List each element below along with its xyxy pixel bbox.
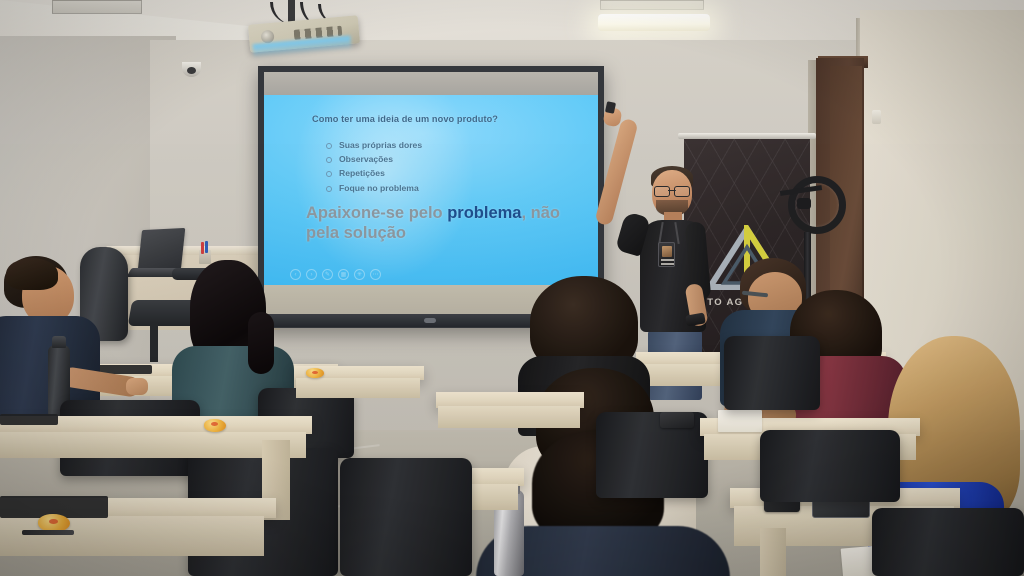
laser-pointer-icon[interactable]: ✳ bbox=[354, 269, 365, 280]
snack bbox=[306, 368, 324, 378]
smartphone[interactable] bbox=[660, 412, 694, 428]
bottle-cap[interactable] bbox=[52, 336, 66, 348]
wall-sconce bbox=[872, 110, 881, 124]
pen[interactable] bbox=[22, 530, 74, 535]
slide-bullet-item: Foque no problema bbox=[326, 183, 422, 193]
desk-front-panel bbox=[438, 406, 580, 428]
ceiling-vent bbox=[52, 0, 142, 14]
student-hair-fringe bbox=[6, 258, 58, 290]
pen bbox=[201, 242, 204, 254]
badge-photo bbox=[662, 246, 672, 257]
desk-front-panel bbox=[296, 378, 420, 398]
chair[interactable] bbox=[340, 458, 472, 576]
mousepad bbox=[0, 414, 58, 425]
slide-bullet-list: Suas próprias dores Observações Repetiçõ… bbox=[326, 140, 422, 197]
id-badge bbox=[658, 242, 675, 267]
ceiling-light-fixture bbox=[598, 14, 710, 31]
slide-title: Como ter uma ideia de um novo produto? bbox=[312, 114, 498, 124]
pen bbox=[205, 241, 208, 253]
slide-bullet-item: Observações bbox=[326, 154, 422, 164]
glasses-icon bbox=[654, 186, 690, 195]
ring-light-hub bbox=[797, 198, 811, 209]
more-options-icon[interactable]: ⋯ bbox=[370, 269, 381, 280]
badge-text-line bbox=[661, 263, 674, 265]
ceiling-vent bbox=[600, 0, 704, 10]
pen-tool-icon[interactable]: ✎ bbox=[322, 269, 333, 280]
slide-quote: Apaixone-se pelo problema, não pela solu… bbox=[306, 203, 564, 243]
notepad bbox=[718, 410, 762, 432]
chair[interactable] bbox=[760, 430, 900, 502]
screenshot-root: Como ter uma ideia de um novo produto? S… bbox=[0, 0, 1024, 576]
presentation-slide: Como ter uma ideia de um novo produto? S… bbox=[264, 95, 598, 285]
glasses-bridge bbox=[668, 190, 676, 192]
student-hand bbox=[126, 378, 148, 395]
chair[interactable] bbox=[724, 336, 820, 410]
desk-front-panel bbox=[0, 432, 306, 458]
slide-bullet-item: Suas próprias dores bbox=[326, 140, 422, 150]
slide-quote-highlight: problema bbox=[447, 204, 521, 222]
slide-quote-before: Apaixone-se pelo bbox=[306, 204, 447, 222]
office-chair-base bbox=[150, 322, 158, 362]
grid-view-icon[interactable]: ▦ bbox=[338, 269, 349, 280]
slide-bullet-item: Repetições bbox=[326, 168, 422, 178]
screen-top-band bbox=[264, 72, 598, 95]
chair[interactable] bbox=[872, 508, 1024, 576]
desk-leg bbox=[760, 528, 786, 576]
snack bbox=[204, 419, 226, 432]
badge-text-line bbox=[661, 259, 674, 261]
student-hair-strand bbox=[248, 312, 274, 374]
